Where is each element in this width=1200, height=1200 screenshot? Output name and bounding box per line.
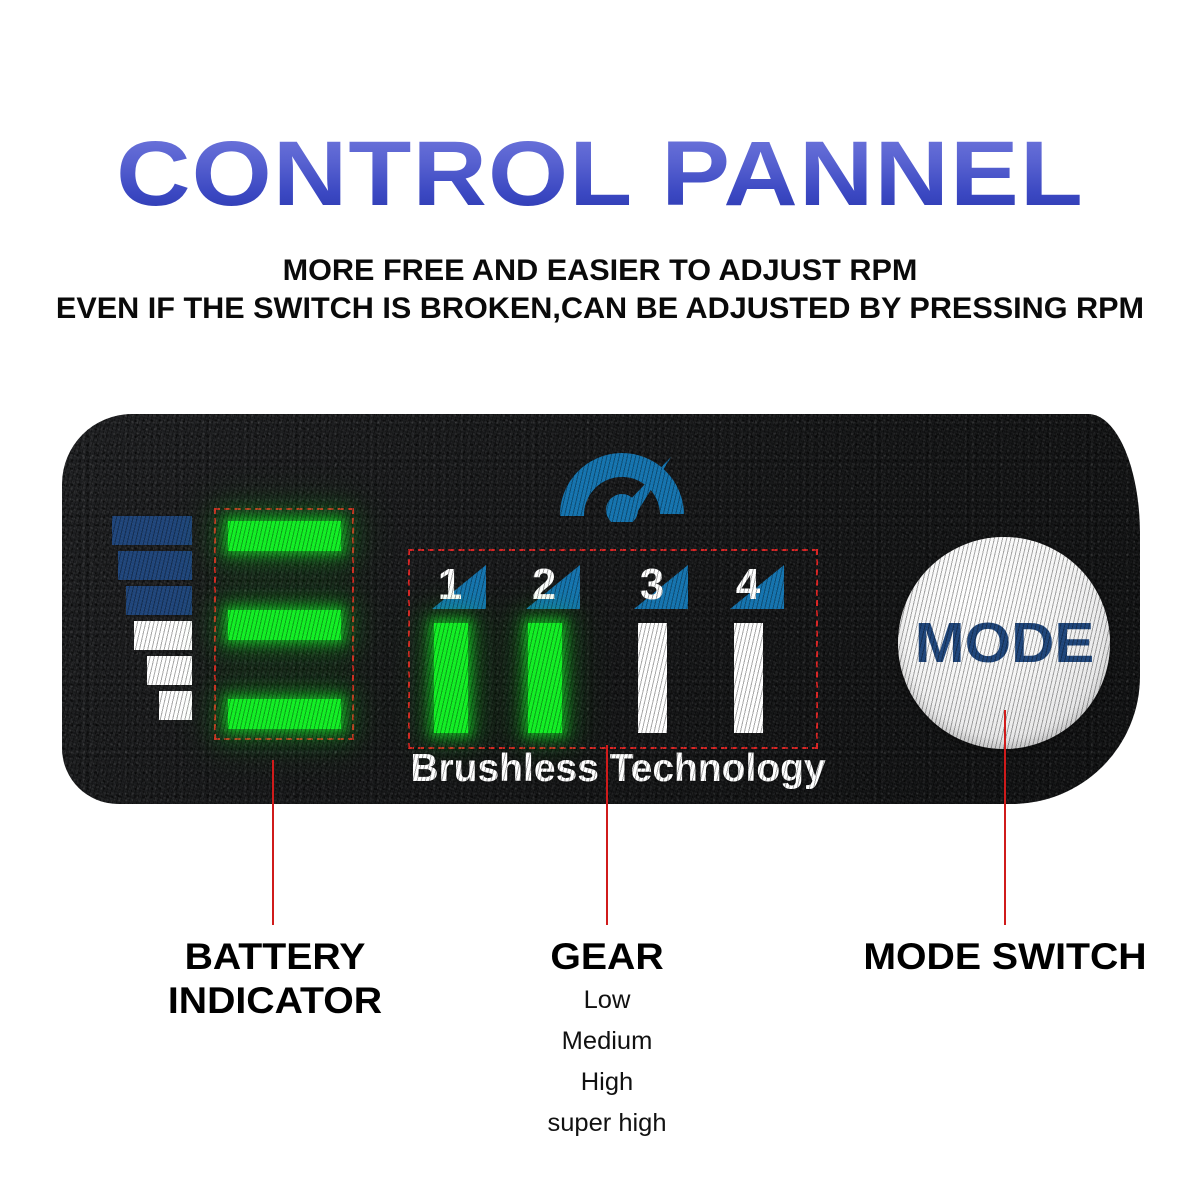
gear-sub-item-low: Low: [444, 980, 770, 1021]
gear-column-2[interactable]: 2: [518, 551, 610, 747]
speedometer-icon: [552, 436, 692, 522]
callout-label-battery: BATTERY INDICATOR: [95, 935, 455, 1023]
callout-label-mode: MODE SWITCH: [835, 935, 1174, 979]
mode-button-label: MODE: [914, 613, 1094, 673]
battery-led-3: [228, 699, 341, 729]
battery-led-1: [228, 521, 341, 551]
gear-bar-3: [638, 623, 667, 733]
page-subtitle: MORE FREE AND EASIER TO ADJUST RPM EVEN …: [0, 252, 1200, 328]
subtitle-line-2: EVEN IF THE SWITCH IS BROKEN,CAN BE ADJU…: [0, 290, 1200, 328]
callout-line-mode: [1004, 710, 1006, 925]
gear-number-3: 3: [632, 560, 672, 610]
gear-sub-items: Low Medium High super high: [444, 980, 770, 1144]
battery-step-2: [118, 551, 192, 580]
mode-label-line-1: MODE SWITCH: [835, 935, 1174, 979]
gear-column-3[interactable]: 3: [626, 551, 718, 747]
battery-step-5: [147, 656, 192, 685]
battery-indicator-group: [214, 508, 354, 740]
subtitle-line-1: MORE FREE AND EASIER TO ADJUST RPM: [0, 252, 1200, 290]
gear-column-1[interactable]: 1: [424, 551, 516, 747]
gear-sub-item-super-high: super high: [444, 1103, 770, 1144]
battery-label-line-1: BATTERY: [95, 935, 455, 979]
battery-step-3: [126, 586, 192, 615]
gear-bar-4: [734, 623, 763, 733]
gear-badge-2: 2: [526, 565, 580, 609]
gear-bar-1: [434, 623, 468, 733]
battery-label-line-2: INDICATOR: [95, 979, 455, 1023]
gear-number-4: 4: [728, 560, 768, 610]
gear-badge-1: 1: [432, 565, 486, 609]
gear-number-2: 2: [524, 560, 564, 610]
gear-badge-3: 3: [634, 565, 688, 609]
battery-led-2: [228, 610, 341, 640]
battery-level-icon: [112, 516, 192, 726]
gear-column-4[interactable]: 4: [722, 551, 814, 747]
gear-indicator-group: 1 2 3 4: [408, 549, 818, 749]
callout-label-gear: GEAR: [437, 935, 776, 979]
battery-step-1: [112, 516, 192, 545]
gear-sub-item-medium: Medium: [444, 1021, 770, 1062]
callout-line-gear: [606, 745, 608, 925]
battery-step-6: [159, 691, 192, 720]
gear-sub-item-high: High: [444, 1062, 770, 1103]
gear-label-line-1: GEAR: [437, 935, 776, 979]
page-title: CONTROL PANNEL: [0, 126, 1200, 222]
gear-bar-2: [528, 623, 562, 733]
battery-step-4: [134, 621, 192, 650]
gear-number-1: 1: [430, 560, 470, 610]
brushless-technology-label: Brushless Technology: [408, 747, 828, 791]
callout-line-battery: [272, 760, 274, 925]
control-panel-device: 1 2 3 4 Brushless Technolog: [62, 414, 1140, 804]
gear-badge-4: 4: [730, 565, 784, 609]
